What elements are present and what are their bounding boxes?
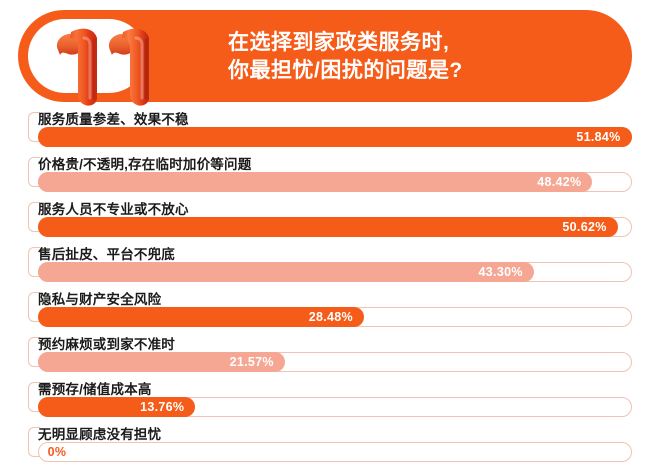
chart-title: 在选择到家政类服务时, 你最担忧/困扰的问题是? [228, 29, 618, 85]
bar-row: 服务人员不专业或不放心50.62% [0, 198, 650, 243]
bar-value-label: 50.62% [562, 220, 617, 234]
bar-category-label: 服务质量参差、效果不稳 [38, 108, 189, 128]
bar-fill: 50.62% [38, 217, 618, 237]
bar-row: 价格贵/不透明,存在临时加价等问题48.42% [0, 153, 650, 198]
bar-track: 21.57% [38, 352, 632, 372]
bar-value-label: 28.48% [309, 310, 364, 324]
bar-track: 13.76% [38, 397, 632, 417]
bar-category-label: 售后扯皮、平台不兜底 [38, 243, 175, 263]
bar-fill: 13.76% [38, 397, 196, 417]
bar-category-label: 服务人员不专业或不放心 [38, 198, 189, 218]
bar-row: 无明显顾虑没有担忧0% [0, 423, 650, 468]
chart-header: 在选择到家政类服务时, 你最担忧/困扰的问题是? [18, 10, 632, 102]
horizontal-bar-chart: 服务质量参差、效果不稳51.84%价格贵/不透明,存在临时加价等问题48.42%… [0, 108, 650, 468]
bar-fill: 21.57% [38, 352, 285, 372]
balloon-number-icon [40, 14, 168, 110]
bar-row: 隐私与财产安全风险28.48% [0, 288, 650, 333]
bar-track: 50.62% [38, 217, 632, 237]
bar-fill: 28.48% [38, 307, 364, 327]
bar-value-label: 51.84% [576, 130, 631, 144]
bar-fill: 43.30% [38, 262, 534, 282]
bar-row: 需预存/储值成本高13.76% [0, 378, 650, 423]
bar-category-label: 无明显顾虑没有担忧 [38, 423, 161, 443]
bar-value-label: 21.57% [230, 355, 285, 369]
bar-row: 服务质量参差、效果不稳51.84% [0, 108, 650, 153]
bar-value-label: 48.42% [537, 175, 592, 189]
bar-track: 28.48% [38, 307, 632, 327]
bar-track: 43.30% [38, 262, 632, 282]
bar-row: 预约麻烦或到家不准时21.57% [0, 333, 650, 378]
bar-value-label: 13.76% [140, 400, 195, 414]
bar-value-label: 0% [38, 445, 67, 459]
bar-track: 51.84% [38, 127, 632, 147]
bar-category-label: 隐私与财产安全风险 [38, 288, 161, 308]
bar-value-label: 43.30% [479, 265, 534, 279]
bar-row: 售后扯皮、平台不兜底43.30% [0, 243, 650, 288]
bar-track: 0% [38, 442, 632, 462]
bar-fill: 0% [38, 442, 632, 462]
bar-category-label: 价格贵/不透明,存在临时加价等问题 [38, 153, 251, 173]
bar-fill: 48.42% [38, 172, 593, 192]
bar-track: 48.42% [38, 172, 632, 192]
bar-fill: 51.84% [38, 127, 632, 147]
bar-category-label: 需预存/储值成本高 [38, 378, 152, 398]
bar-category-label: 预约麻烦或到家不准时 [38, 333, 175, 353]
